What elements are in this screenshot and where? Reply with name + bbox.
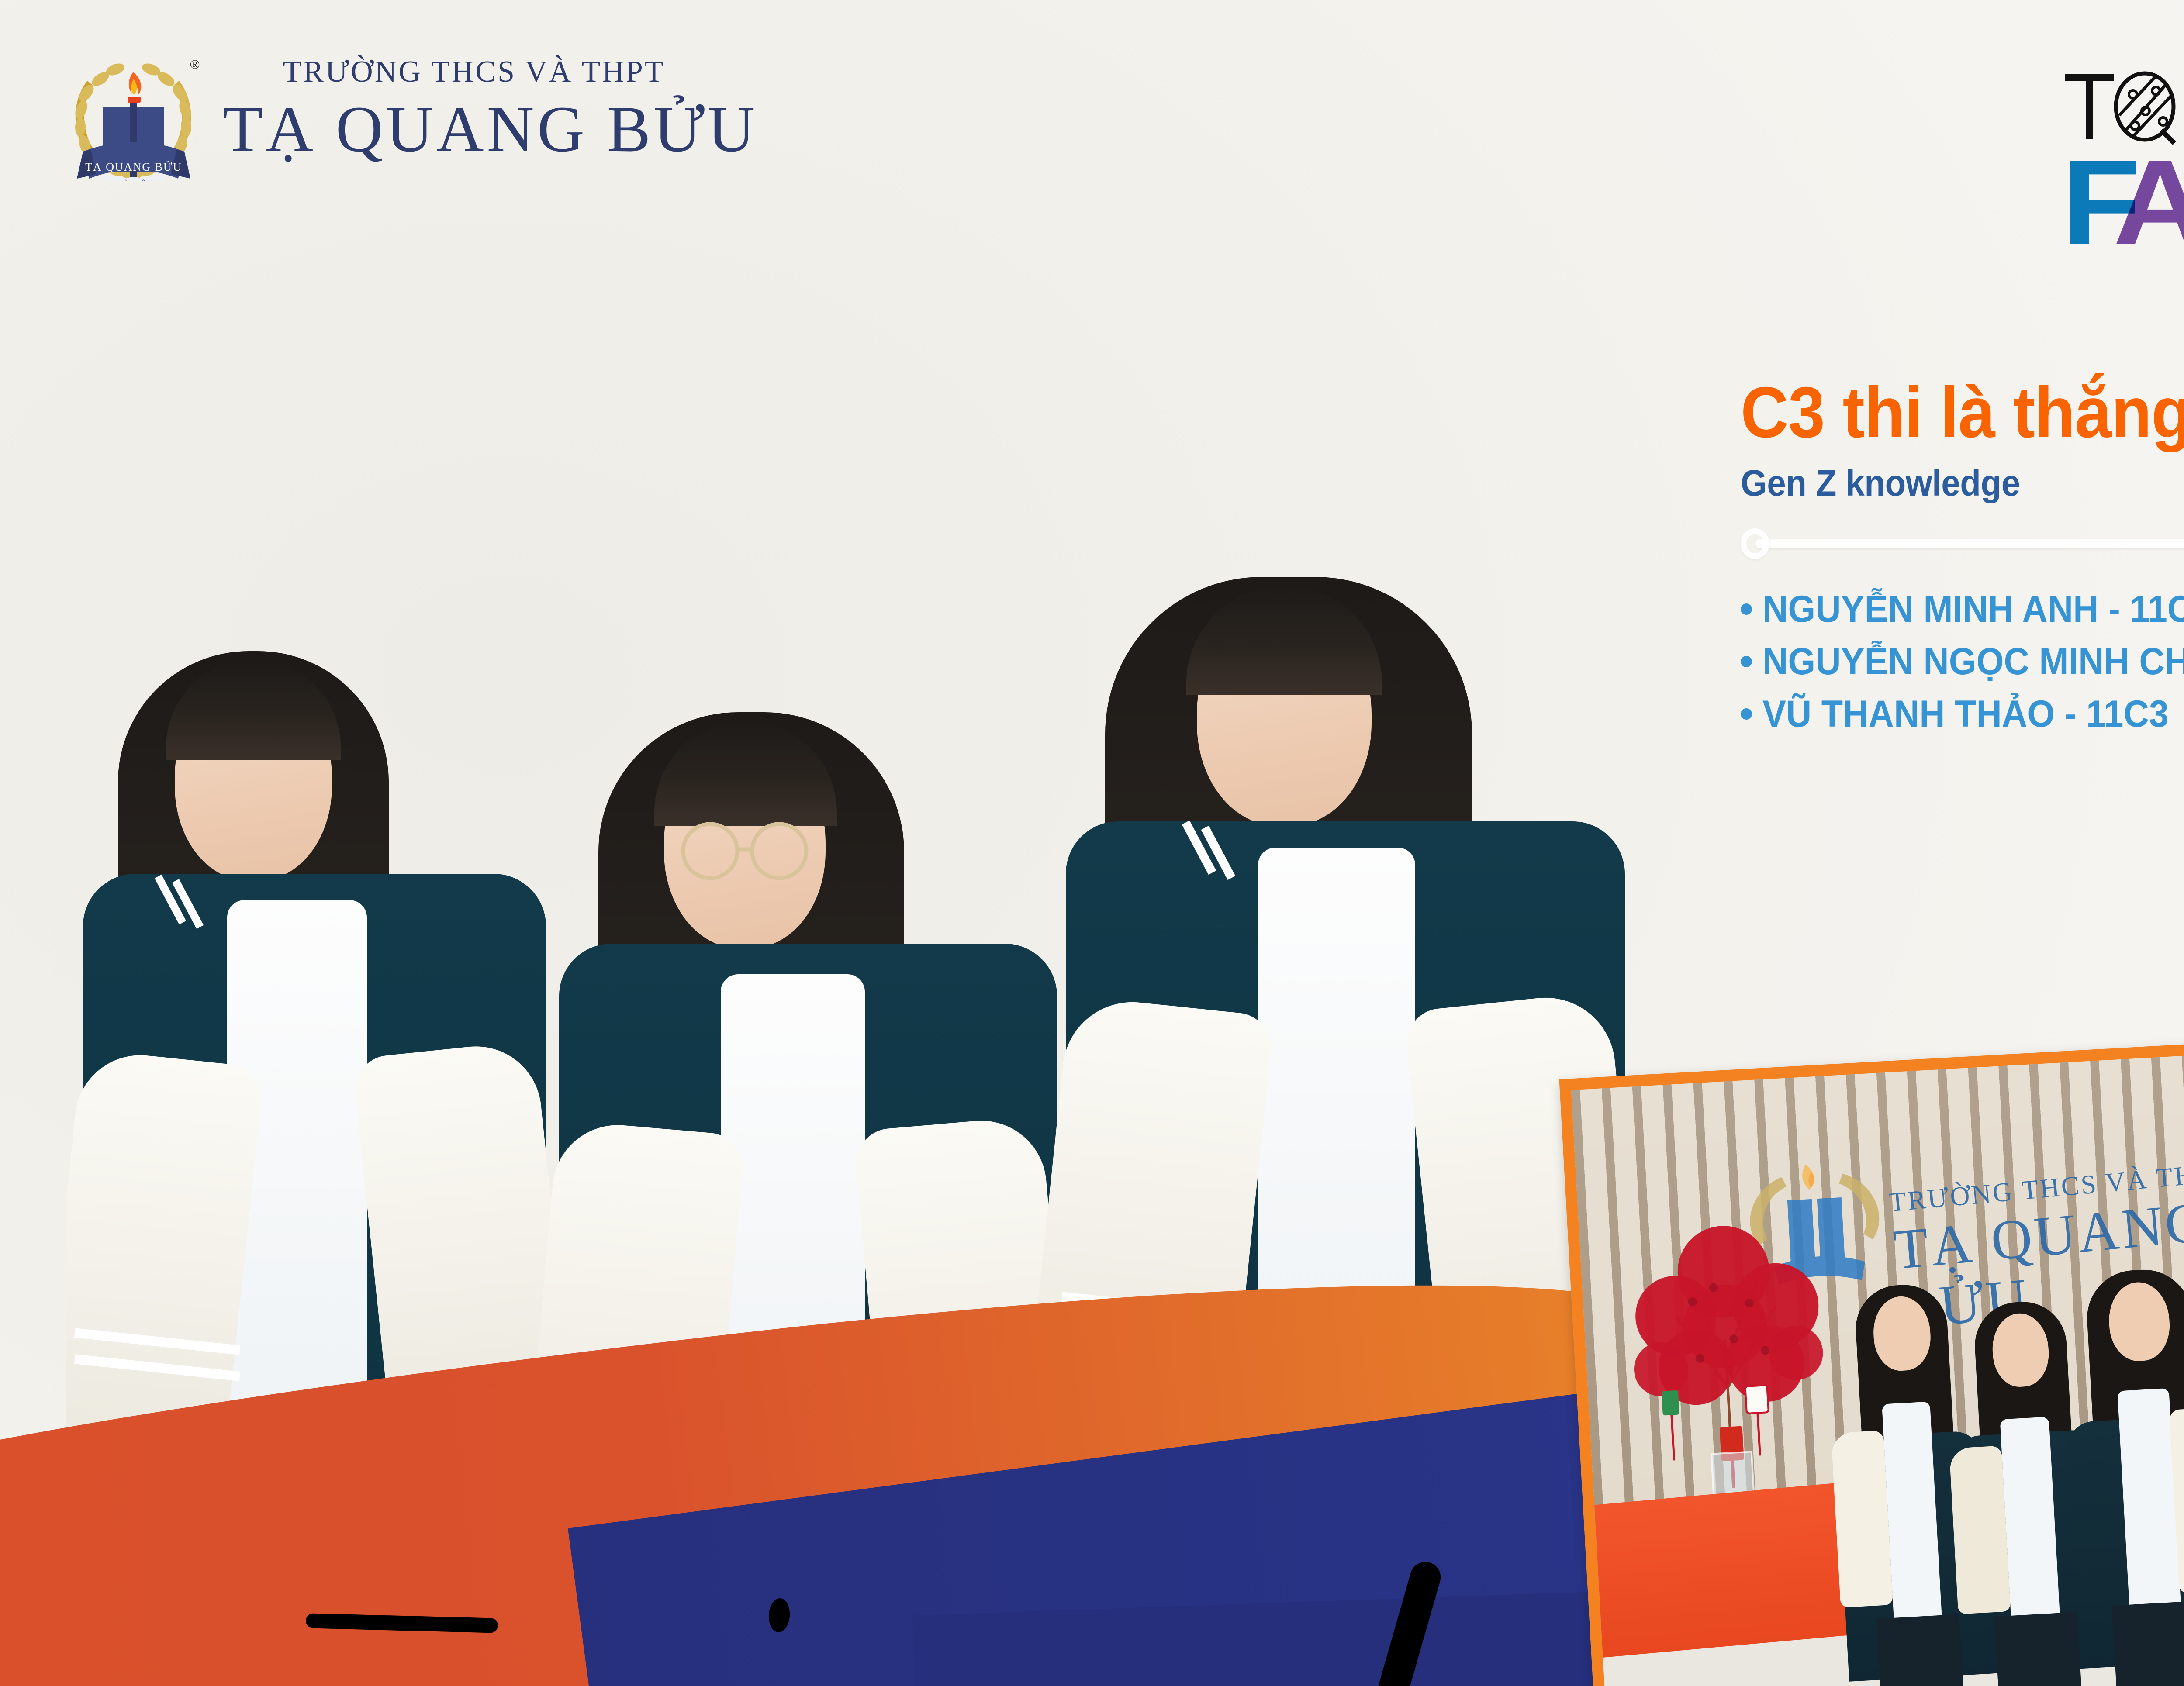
member-name: NGUYỄN NGỌC MINH CHÂU - 11C3 [1762,643,2184,680]
school-logo: TẠ QUANG BỬU HÀ NỘI ® TRƯỜNG THCS VÀ THP… [61,44,729,183]
page-title: C3 thi là thắng [1741,376,2184,449]
tqbs-fablab-logo: TQB's F A B L A B [2062,70,2184,245]
member-name: VŨ THANH THẢO - 11C3 [1762,695,2169,733]
bullet-icon [1741,656,1752,667]
fablab-letter-a1: A [2113,142,2184,262]
fablab-wordmark: F A B L A B [2062,142,2184,243]
bullet-icon [1741,603,1752,615]
school-name-line1: TRƯỜNG THCS VÀ THPT [223,57,725,87]
inset-photo: TRƯỜNG THCS VÀ THPT TẠ QUANG BỬU [1559,1035,2184,1686]
member-list: NGUYỄN MINH ANH - 11C3 NGUYỄN NGỌC MINH … [1741,590,2184,733]
school-name-line2: TẠ QUANG BỬU [223,95,725,164]
crest-ribbon-label: TẠ QUANG BỬU [85,161,182,173]
inset-person-right [2058,1263,2184,1669]
content-block: C3 thi là thắng Gen Z knowledge NGUYỄN M… [1741,376,2184,748]
school-name-block: TRƯỜNG THCS VÀ THPT TẠ QUANG BỬU [223,57,725,164]
list-item: NGUYỄN NGỌC MINH CHÂU - 11C3 [1741,643,2184,680]
divider [1741,528,2184,559]
divider-bar [1755,539,2184,548]
fablab-letter-b1: B [2180,142,2184,262]
list-item: NGUYỄN MINH ANH - 11C3 [1741,590,2184,628]
registered-mark-icon: ® [190,57,200,72]
tqbs-lettering-icon [2062,70,2184,146]
member-name: NGUYỄN MINH ANH - 11C3 [1762,590,2184,628]
tqbs-wordmark: TQB's [2062,70,2184,140]
list-item: VŨ THANH THẢO - 11C3 [1741,695,2184,733]
poster-canvas: TẠ QUANG BỬU HÀ NỘI ® TRƯỜNG THCS VÀ THP… [0,0,2184,1686]
glasses-icon [668,817,821,887]
page-subtitle: Gen Z knowledge [1741,465,2184,501]
bullet-icon [1741,708,1752,720]
divider-knob-icon [1741,528,1769,559]
inset-berry-tree [1603,1176,1847,1503]
school-crest-icon: TẠ QUANG BỬU HÀ NỘI ® [61,37,205,181]
